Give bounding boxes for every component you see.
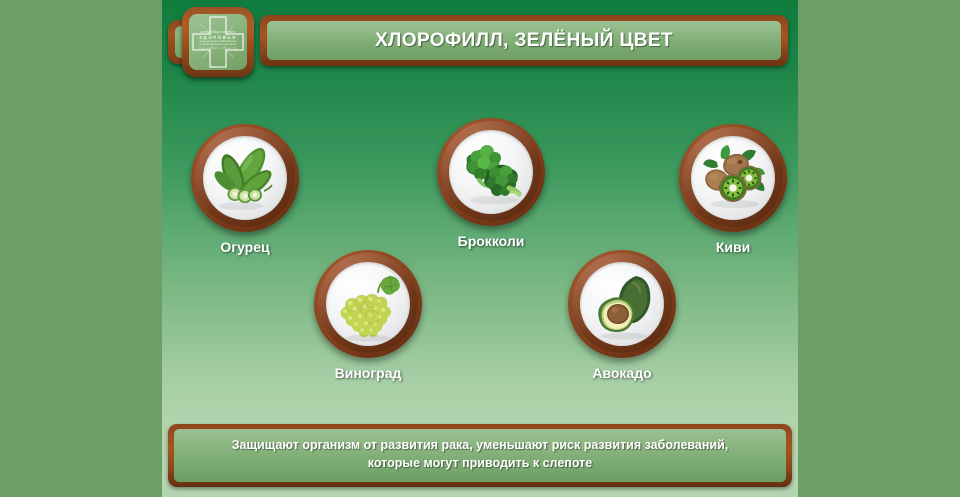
caption-line-1: Защищают организм от развития рака, умен…	[190, 436, 770, 455]
food-item-cucumber[interactable]: Огурец	[175, 124, 315, 255]
avocado-image	[580, 262, 664, 346]
broccoli-image	[449, 130, 533, 214]
broccoli-disc	[437, 118, 545, 226]
title-panel: ХЛОРОФИЛЛ, ЗЕЛЁНЫЙ ЦВЕТ	[267, 21, 781, 60]
title-bar: ХЛОРОФИЛЛ, ЗЕЛЁНЫЙ ЦВЕТ	[260, 15, 788, 66]
kiwi-disc	[679, 124, 787, 232]
food-item-grapes[interactable]: Виноград	[298, 250, 438, 381]
presentation-page: Центр Общественного ЗДОРОВЬЯ медицинской…	[0, 0, 960, 497]
caption-panel: Защищают организм от развития рака, умен…	[174, 429, 786, 483]
broccoli-icon	[449, 130, 533, 214]
grapes-disc	[314, 250, 422, 358]
kiwi-image	[691, 136, 775, 220]
food-item-broccoli[interactable]: Брокколи	[421, 118, 561, 249]
grapes-label: Виноград	[298, 365, 438, 381]
cucumber-icon	[203, 136, 287, 220]
broccoli-label: Брокколи	[421, 233, 561, 249]
grapes-icon	[326, 262, 410, 346]
logo-inner-panel: Центр Общественного ЗДОРОВЬЯ медицинской…	[189, 14, 247, 70]
avocado-disc	[568, 250, 676, 358]
slide: Центр Общественного ЗДОРОВЬЯ медицинской…	[162, 0, 798, 497]
organization-logo: Центр Общественного ЗДОРОВЬЯ медицинской…	[182, 7, 254, 77]
avocado-icon	[580, 262, 664, 346]
food-item-kiwi[interactable]: Киви	[663, 124, 798, 255]
slide-title: ХЛОРОФИЛЛ, ЗЕЛЁНЫЙ ЦВЕТ	[375, 30, 673, 52]
cucumber-label: Огурец	[175, 239, 315, 255]
grapes-image	[326, 262, 410, 346]
caption-bar: Защищают организм от развития рака, умен…	[168, 424, 792, 488]
caption-line-2: которые могут приводить к слепоте	[190, 454, 770, 473]
slide-header: Центр Общественного ЗДОРОВЬЯ медицинской…	[162, 4, 798, 76]
avocado-label: Авокадо	[552, 365, 692, 381]
cucumber-image	[203, 136, 287, 220]
cucumber-disc	[191, 124, 299, 232]
kiwi-icon	[691, 136, 775, 220]
medical-cross-icon	[190, 14, 246, 70]
food-item-avocado[interactable]: Авокадо	[552, 250, 692, 381]
